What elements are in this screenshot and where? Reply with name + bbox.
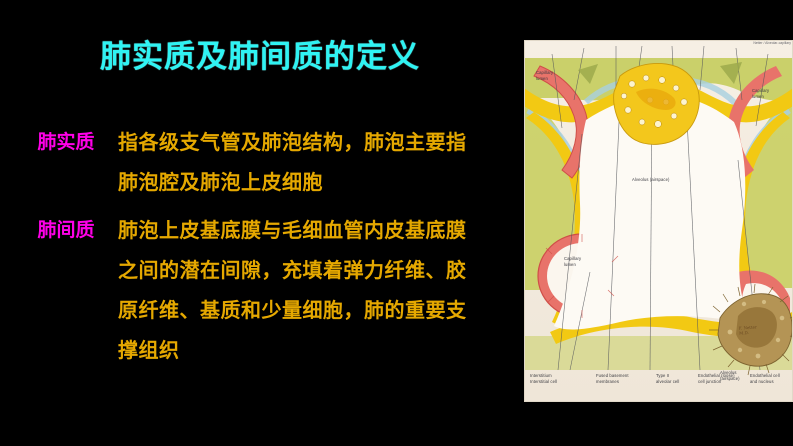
- definition-line: 肺泡上皮基底膜与毛细血管内皮基底膜: [118, 210, 514, 250]
- figure-credit: Netter / Alveolar-capillary: [753, 41, 791, 45]
- definition-row-interstitium: 肺间质 肺泡上皮基底膜与毛细血管内皮基底膜 之间的潜在间隙，充填着弹力纤维、胶 …: [14, 210, 514, 370]
- figure-signature: F. Netter M.D.: [739, 326, 758, 337]
- figure-label-capillary-lumen-mid-left: Capillary lumen: [564, 256, 581, 267]
- page-title: 肺实质及肺间质的定义: [0, 40, 520, 74]
- figure-label-endothelial-cell-and-nucleus: Endothelial cell and nucleus: [750, 373, 780, 384]
- definition-line: 肺泡腔及肺泡上皮细胞: [118, 162, 514, 202]
- definition-text-parenchyma: 指各级支气管及肺泡结构，肺泡主要指 肺泡腔及肺泡上皮细胞: [118, 122, 514, 202]
- slide-canvas: 肺实质及肺间质的定义 肺实质 指各级支气管及肺泡结构，肺泡主要指 肺泡腔及肺泡上…: [0, 0, 793, 446]
- definition-line: 原纤维、基质和少量细胞，肺的重要支: [118, 290, 514, 330]
- definition-line: 指各级支气管及肺泡结构，肺泡主要指: [118, 122, 514, 162]
- definition-row-parenchyma: 肺实质 指各级支气管及肺泡结构，肺泡主要指 肺泡腔及肺泡上皮细胞: [14, 122, 514, 202]
- term-label-parenchyma: 肺实质: [14, 122, 118, 162]
- figure-label-capillary-lumen-upper-right: Capillary lumen: [752, 88, 769, 99]
- definition-text-interstitium: 肺泡上皮基底膜与毛细血管内皮基底膜 之间的潜在间隙，充填着弹力纤维、胶 原纤维、…: [118, 210, 514, 370]
- figure-label-type-ii-alveolar-cell: Type II alveolar cell: [656, 373, 679, 384]
- term-label-interstitium: 肺间质: [14, 210, 118, 250]
- figure-label-fused-basement-membranes: Fused basement membranes: [596, 373, 629, 384]
- figure-label-alveolus-airspace-center: Alveolus (airspace): [632, 177, 670, 183]
- alveolus-capillary-diagram: Netter / Alveolar-capillary Capillary lu…: [524, 40, 793, 402]
- definition-list: 肺实质 指各级支气管及肺泡结构，肺泡主要指 肺泡腔及肺泡上皮细胞 肺间质 肺泡上…: [14, 122, 514, 370]
- figure-label-endothelial-loose-cell-junction: Endothelial (loose) cell junction: [698, 373, 735, 384]
- definition-line: 之间的潜在间隙，充填着弹力纤维、胶: [118, 250, 514, 290]
- figure-label-interstitium-interstitial-cell: Interstitium Interstitial cell: [530, 373, 557, 384]
- figure-label-capillary-lumen-upper-left: Capillary lumen: [536, 70, 553, 81]
- definition-line: 撑组织: [118, 330, 514, 370]
